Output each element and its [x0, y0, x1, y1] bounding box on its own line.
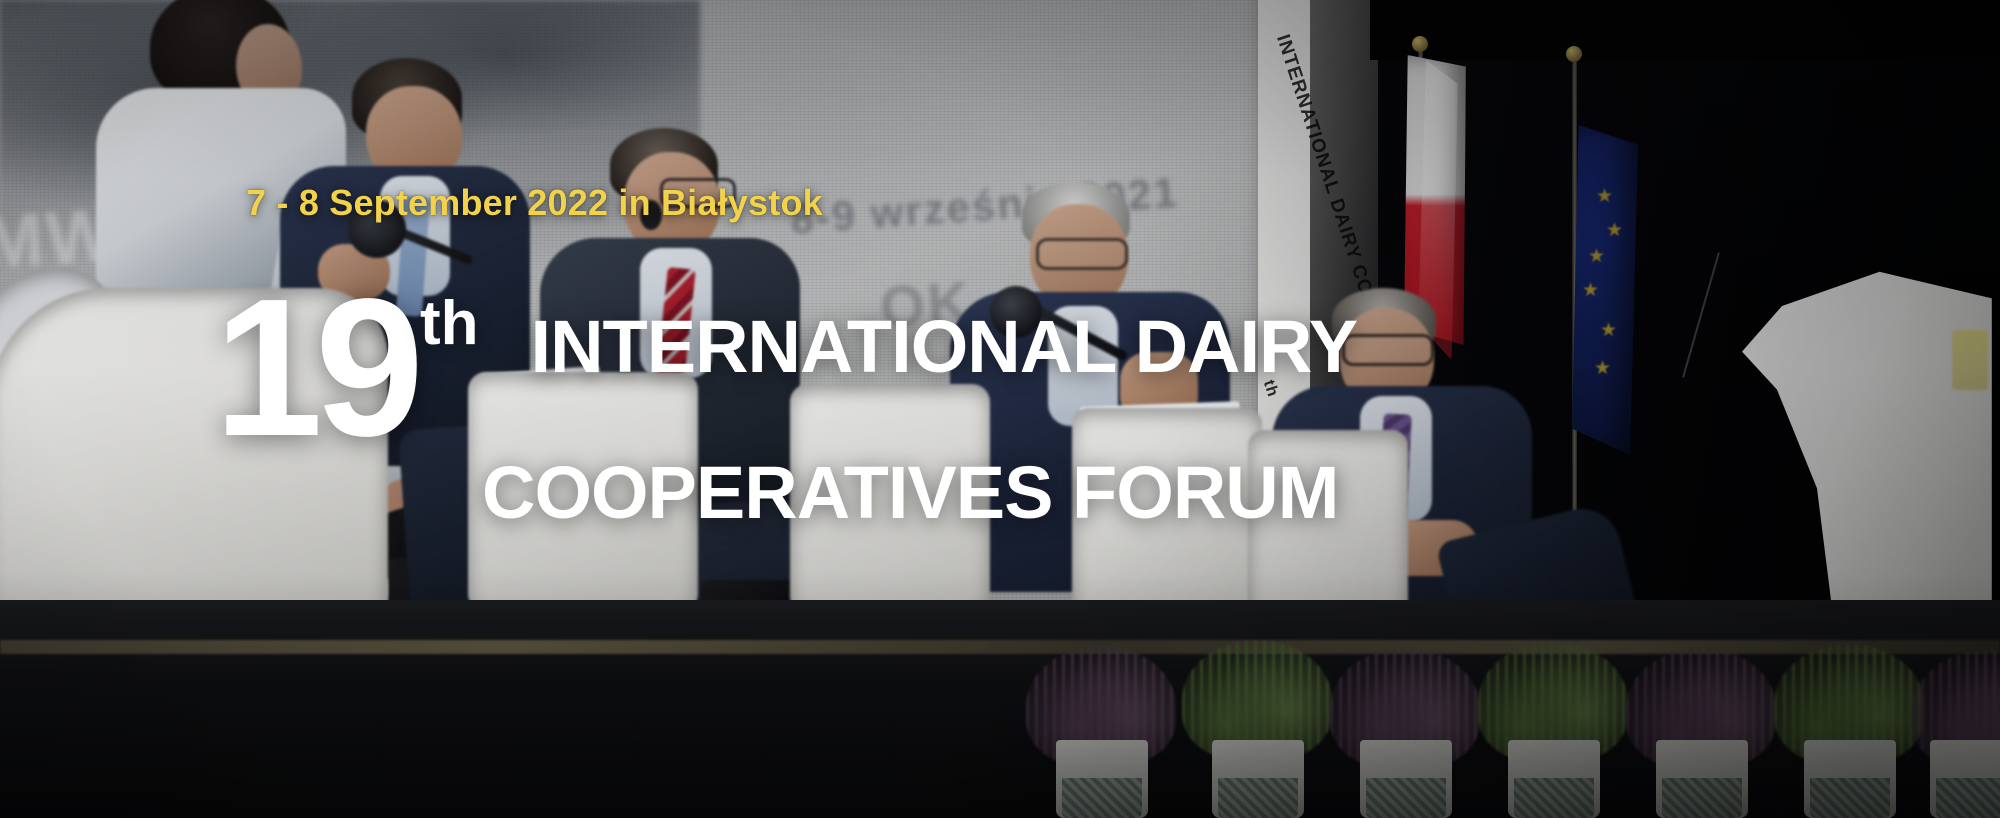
- edition-ordinal-suffix: th: [420, 288, 479, 359]
- hero-text-overlay: 7 - 8 September 2022 in Białystok 19 th …: [0, 0, 2000, 818]
- event-date-line: 7 - 8 September 2022 in Białystok: [246, 182, 823, 224]
- event-title-line-one: INTERNATIONAL DAIRY: [531, 304, 1358, 389]
- edition-number: 19: [214, 278, 416, 458]
- event-title-line-two: COOPERATIVES FORUM: [482, 450, 1614, 535]
- title-first-row: 19 th INTERNATIONAL DAIRY: [214, 278, 1614, 458]
- conference-hero-banner: MW kie 8-9 września 2021 OK Y INTERNATIO…: [0, 0, 2000, 818]
- event-title-block: 19 th INTERNATIONAL DAIRY COOPERATIVES F…: [214, 278, 1614, 535]
